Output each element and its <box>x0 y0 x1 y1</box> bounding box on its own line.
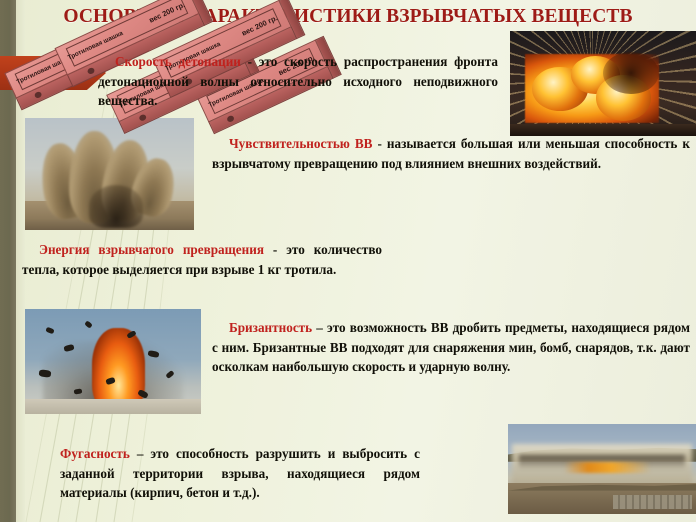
text-block-detonation: Скорость детонации - это скорость распро… <box>98 52 498 111</box>
term-detonation: Скорость детонации <box>115 54 241 69</box>
quarry-wall <box>613 495 692 509</box>
term-sensitivity: Чувствительностью ВВ <box>229 136 372 151</box>
term-blast: Фугасность <box>60 446 130 461</box>
text-block-energy: Энергия взрывчатого превращения - это ко… <box>22 240 382 279</box>
slide: ОСНОВНЫЕ ХАРАКТЕРИСТИКИ ВЗРЫВЧАТЫХ ВЕЩЕС… <box>0 0 696 522</box>
quarry-blast-image <box>508 424 696 514</box>
text-block-blast: Фугасность – это способность разрушить и… <box>60 444 420 503</box>
term-energy: Энергия взрывчатого превращения <box>39 242 264 257</box>
dirt-dark-smoke <box>89 185 143 228</box>
dirt-explosion-image <box>25 118 194 230</box>
text-block-brisance: Бризантность – это возможность ВВ дробит… <box>212 318 690 377</box>
fireball-smoke <box>603 52 659 94</box>
quarry-flame-line <box>564 462 650 473</box>
fireball-explosion-image <box>510 31 696 136</box>
term-brisance: Бризантность <box>229 320 312 335</box>
fragmentation-explosion-image <box>25 309 201 414</box>
debris <box>39 369 52 378</box>
frag-fire <box>92 328 145 410</box>
frag-ground <box>25 399 201 414</box>
text-block-sensitivity: Чувствительностью ВВ - называется больша… <box>212 134 690 173</box>
